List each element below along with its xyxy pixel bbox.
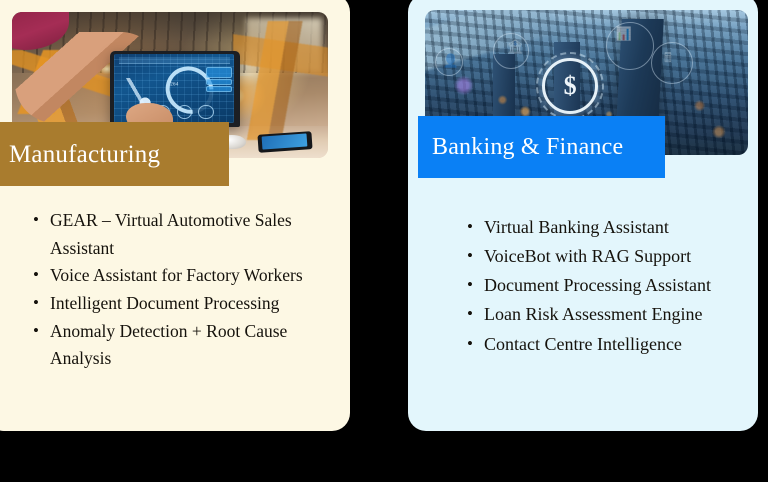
dashboard-chip-b xyxy=(206,79,232,85)
dashboard-top-bar xyxy=(119,57,229,64)
banking-title-banner: Banking & Finance xyxy=(418,116,665,178)
list-item: Contact Centre Intelligence xyxy=(466,330,756,359)
manufacturing-title: Manufacturing xyxy=(9,142,160,167)
list-item: Intelligent Document Processing xyxy=(32,290,322,318)
list-item: Document Processing Assistant xyxy=(466,271,756,300)
gauge-value: 264 xyxy=(170,82,178,87)
slide-canvas: 264 Manufacturing GEAR – Virtual Automot… xyxy=(0,0,768,482)
calculator-icon: 🖩 xyxy=(664,49,672,71)
manufacturing-title-banner: Manufacturing xyxy=(0,122,229,186)
list-item: Anomaly Detection + Root Cause Analysis xyxy=(32,318,322,373)
manufacturing-bullet-list: GEAR – Virtual Automotive Sales Assistan… xyxy=(32,207,322,373)
list-item: GEAR – Virtual Automotive Sales Assistan… xyxy=(32,207,322,262)
calculator-icon-ring xyxy=(651,42,693,84)
list-item: Loan Risk Assessment Engine xyxy=(466,300,756,329)
chart-icon: 📊 xyxy=(616,27,632,42)
list-item: VoiceBot with RAG Support xyxy=(466,242,756,271)
bank-icon: 🏦 xyxy=(507,40,523,55)
user-icon: 👤 xyxy=(443,54,459,69)
dollar-icon: $ xyxy=(542,58,598,114)
list-item: Voice Assistant for Factory Workers xyxy=(32,262,322,290)
dashboard-chip-c xyxy=(206,86,232,92)
dashboard-chip-a xyxy=(206,67,232,79)
banking-bullet-list: Virtual Banking Assistant VoiceBot with … xyxy=(466,213,756,359)
list-item: Virtual Banking Assistant xyxy=(466,213,756,242)
dashboard-dial-3 xyxy=(198,105,213,119)
card-manufacturing[interactable]: 264 Manufacturing GEAR – Virtual Automot… xyxy=(0,0,350,431)
card-banking[interactable]: 🏦 👤 📊 🖩 $ Banking & Finance Virtual Bank… xyxy=(408,0,758,431)
banking-title: Banking & Finance xyxy=(432,135,623,159)
dashboard-dial-2 xyxy=(177,105,192,119)
